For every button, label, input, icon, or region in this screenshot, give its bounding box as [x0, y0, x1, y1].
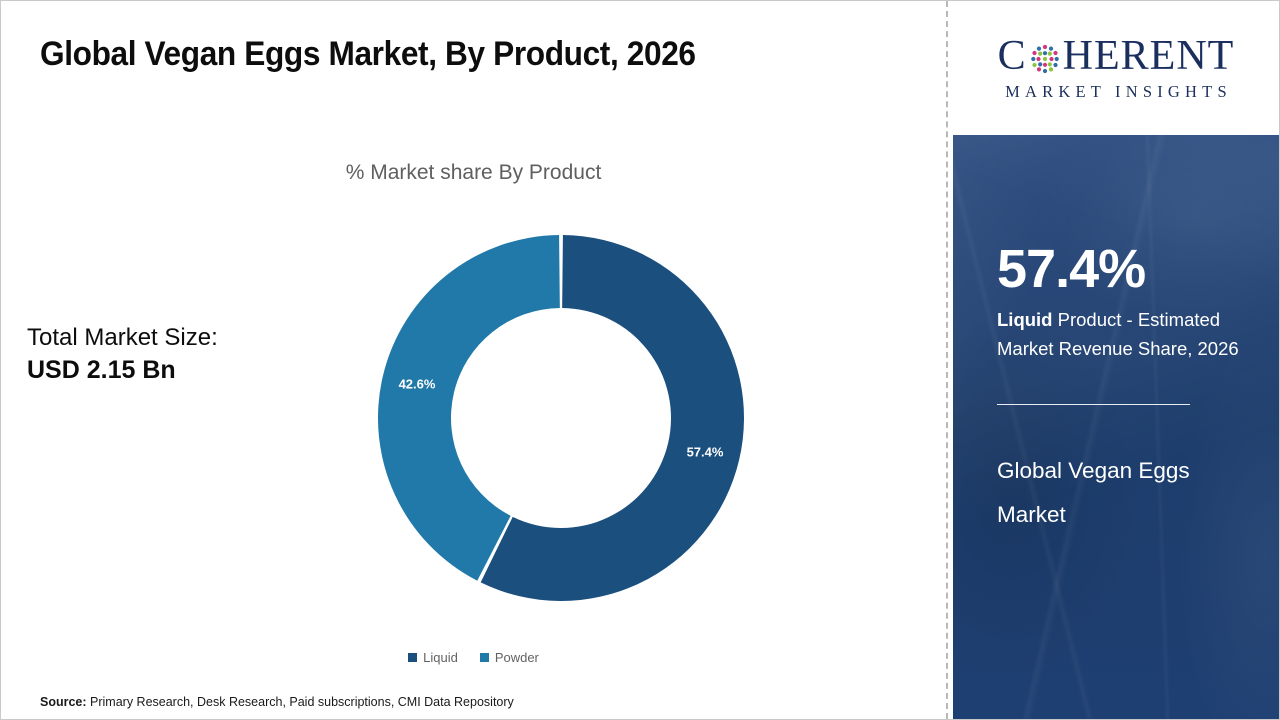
donut-chart-svg: 57.4% 42.6% — [378, 235, 744, 601]
legend-swatch-powder — [480, 653, 489, 662]
chart-pane: Global Vegan Eggs Market, By Product, 20… — [1, 1, 946, 719]
chart-subtitle: % Market share By Product — [1, 161, 946, 185]
chart-legend: Liquid Powder — [1, 650, 946, 665]
source-text: Primary Research, Desk Research, Paid su… — [87, 695, 514, 709]
legend-label-powder: Powder — [495, 650, 539, 665]
legend-swatch-liquid — [408, 653, 417, 662]
legend-item-liquid[interactable]: Liquid — [408, 650, 458, 665]
highlight-panel: 57.4% Liquid Product - Estimated Market … — [953, 135, 1279, 719]
headline-description: Liquid Product - Estimated Market Revenu… — [997, 306, 1253, 363]
page-title: Global Vegan Eggs Market, By Product, 20… — [40, 35, 696, 74]
brand-panel: C — [953, 1, 1279, 719]
panel-market-name: Global Vegan Eggs Market — [997, 449, 1253, 537]
logo-wordmark: C — [998, 35, 1235, 77]
panel-divider-rule — [997, 404, 1190, 405]
legend-item-powder[interactable]: Powder — [480, 650, 539, 665]
headline-description-bold: Liquid — [997, 309, 1052, 330]
logo-letters-herent: HERENT — [1063, 35, 1235, 77]
logo-tagline: MARKET INSIGHTS — [1000, 82, 1232, 102]
slice-label-powder: 42.6% — [399, 376, 436, 391]
infographic-canvas: Global Vegan Eggs Market, By Product, 20… — [0, 0, 1280, 720]
total-market-size-label: Total Market Size: — [27, 323, 218, 354]
total-market-size-block: Total Market Size: USD 2.15 Bn — [27, 323, 218, 386]
legend-label-liquid: Liquid — [423, 650, 458, 665]
headline-percentage: 57.4% — [997, 242, 1253, 296]
donut-chart: 57.4% 42.6% — [378, 235, 744, 601]
highlight-content: 57.4% Liquid Product - Estimated Market … — [953, 135, 1279, 537]
logo: C — [953, 1, 1279, 135]
vertical-dashed-divider — [946, 1, 948, 719]
logo-letter-c: C — [998, 35, 1027, 77]
source-note: Source: Primary Research, Desk Research,… — [40, 695, 514, 709]
globe-dots-icon — [1028, 42, 1062, 76]
total-market-size-value: USD 2.15 Bn — [27, 354, 218, 386]
source-label: Source: — [40, 695, 87, 709]
slice-label-liquid: 57.4% — [687, 445, 724, 460]
